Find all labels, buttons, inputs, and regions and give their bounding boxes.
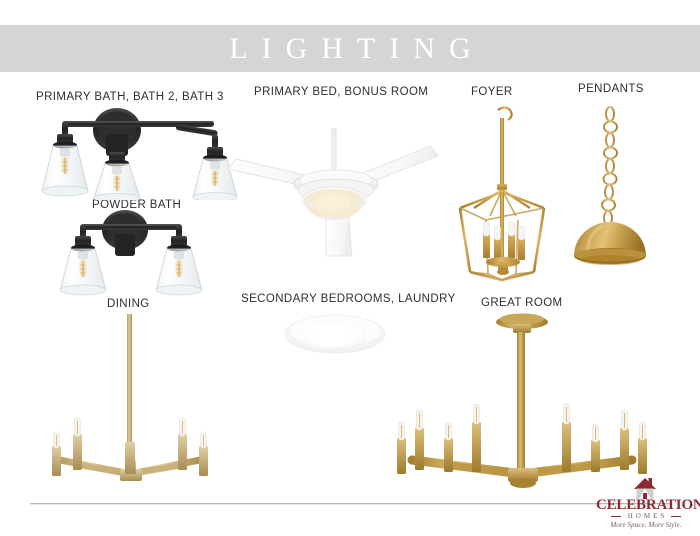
fixture-dome-pendant <box>566 104 662 290</box>
label-great-room: GREAT ROOM <box>481 297 563 309</box>
fixture-foyer-lantern <box>452 104 558 290</box>
fixture-dining-chandelier <box>22 314 248 492</box>
logo-rule-left <box>611 516 621 517</box>
fixture-powder-bath-vanity <box>46 210 216 298</box>
page-title: LIGHTING <box>0 25 700 72</box>
label-foyer: FOYER <box>471 86 513 98</box>
logo-name: CELEBRATION <box>596 498 696 513</box>
footer-divider <box>30 503 670 505</box>
fixture-primary-bath-vanity <box>26 108 242 200</box>
logo-tagline: More Space. More Style. <box>596 521 696 529</box>
logo-subtitle: HOMES <box>625 512 668 520</box>
lighting-selection-board: LIGHTING PRIMARY BATH, BATH 2, BATH 3 PR… <box>0 0 700 536</box>
fixture-great-room-chandelier <box>382 310 670 498</box>
house-icon <box>632 477 658 499</box>
celebration-homes-logo: CELEBRATION HOMES More Space. More Style… <box>596 477 696 529</box>
logo-subtitle-row: HOMES <box>596 512 696 520</box>
label-primary-bath: PRIMARY BATH, BATH 2, BATH 3 <box>36 91 224 103</box>
fixture-ceiling-fan <box>222 128 442 278</box>
label-pendants: PENDANTS <box>578 83 644 95</box>
label-dining: DINING <box>107 298 150 310</box>
fixture-flush-mount-disc <box>281 309 389 359</box>
label-primary-bed: PRIMARY BED, BONUS ROOM <box>254 86 428 98</box>
logo-rule-right <box>671 516 681 517</box>
label-secondary-bedrooms: SECONDARY BEDROOMS, LAUNDRY <box>241 293 456 305</box>
